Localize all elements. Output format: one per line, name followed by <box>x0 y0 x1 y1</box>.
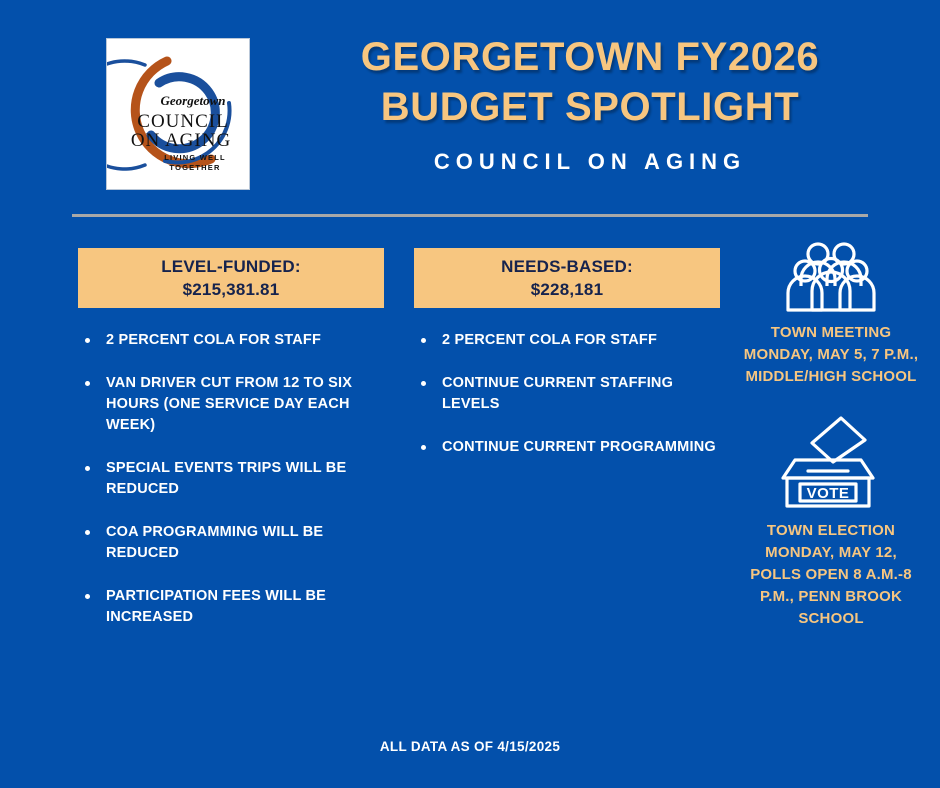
list-item: PARTICIPATION FEES WILL BE INCREASED <box>78 586 384 628</box>
list-item: VAN DRIVER CUT FROM 12 TO SIX HOURS (ONE… <box>78 373 384 436</box>
scenario-bullet-list: 2 PERCENT COLA FOR STAFF CONTINUE CURREN… <box>414 330 720 458</box>
title-line-1: GEORGETOWN FY2026 <box>290 32 890 82</box>
town-election-details: TOWN ELECTION MONDAY, MAY 12, POLLS OPEN… <box>738 520 924 630</box>
poster-header: Georgetown COUNCIL ON AGING LIVING WELL … <box>0 0 940 214</box>
georgetown-council-on-aging-logo: Georgetown COUNCIL ON AGING LIVING WELL … <box>106 38 250 190</box>
header-divider <box>72 214 868 217</box>
scenario-needs-based: NEEDS-BASED: $228,181 2 PERCENT COLA FOR… <box>414 248 720 480</box>
vote-label: VOTE <box>807 485 850 502</box>
list-item: CONTINUE CURRENT PROGRAMMING <box>414 437 720 458</box>
logo-name-line-1: COUNCIL <box>137 111 228 132</box>
scenario-amount: $215,381.81 <box>183 279 280 300</box>
page-subtitle: COUNCIL ON AGING <box>290 148 890 176</box>
list-item: COA PROGRAMMING WILL BE REDUCED <box>78 522 384 564</box>
logo-tagline-line-2: TOGETHER <box>169 163 220 172</box>
group-of-people-icon <box>775 240 887 312</box>
scenario-bullet-list: 2 PERCENT COLA FOR STAFF VAN DRIVER CUT … <box>78 330 384 628</box>
page-title: GEORGETOWN FY2026 BUDGET SPOTLIGHT COUNC… <box>290 32 890 176</box>
scenario-label: LEVEL-FUNDED: <box>161 256 301 277</box>
events-sidebar: TOWN MEETING MONDAY, MAY 5, 7 P.M., MIDD… <box>738 240 924 630</box>
scenario-label: NEEDS-BASED: <box>501 256 633 277</box>
town-meeting-details: TOWN MEETING MONDAY, MAY 5, 7 P.M., MIDD… <box>738 322 924 388</box>
scenario-card-header: LEVEL-FUNDED: $215,381.81 <box>78 248 384 308</box>
logo-script-word: Georgetown <box>161 93 226 108</box>
list-item: SPECIAL EVENTS TRIPS WILL BE REDUCED <box>78 458 384 500</box>
town-election-block: VOTE TOWN ELECTION MONDAY, MAY 12, POLLS… <box>738 414 924 630</box>
list-item: 2 PERCENT COLA FOR STAFF <box>78 330 384 351</box>
budget-spotlight-poster: Georgetown COUNCIL ON AGING LIVING WELL … <box>0 0 940 788</box>
title-line-2: BUDGET SPOTLIGHT <box>290 82 890 132</box>
scenario-amount: $228,181 <box>531 279 604 300</box>
data-as-of-note: ALL DATA AS OF 4/15/2025 <box>380 739 560 754</box>
scenario-level-funded: LEVEL-FUNDED: $215,381.81 2 PERCENT COLA… <box>78 248 384 650</box>
logo-tagline-line-1: LIVING WELL <box>164 153 226 162</box>
scenario-card-header: NEEDS-BASED: $228,181 <box>414 248 720 308</box>
list-item: CONTINUE CURRENT STAFFING LEVELS <box>414 373 720 415</box>
town-meeting-block: TOWN MEETING MONDAY, MAY 5, 7 P.M., MIDD… <box>738 240 924 388</box>
logo-name-line-2: ON AGING <box>131 130 231 151</box>
list-item: 2 PERCENT COLA FOR STAFF <box>414 330 720 351</box>
poster-footer: ALL DATA AS OF 4/15/2025 <box>0 738 940 756</box>
ballot-box-vote-icon: VOTE <box>775 414 887 510</box>
